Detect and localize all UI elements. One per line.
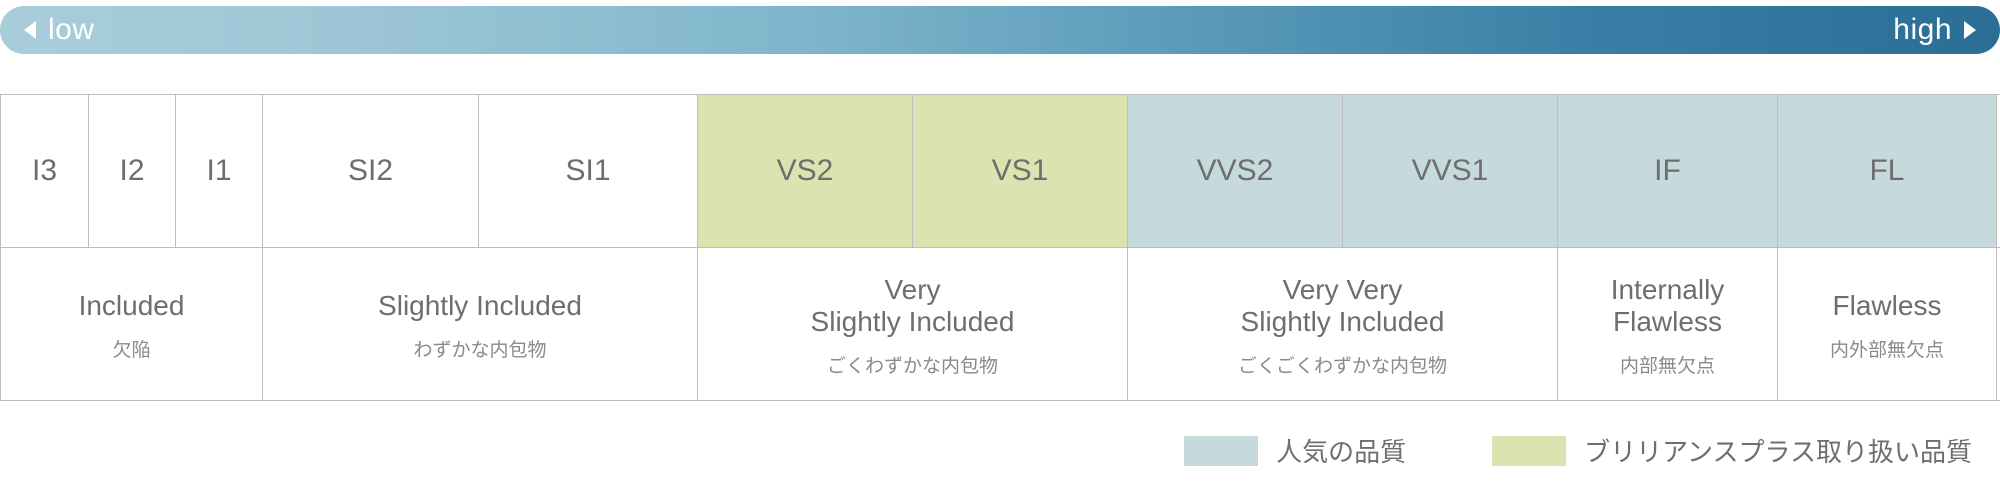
description-japanese: 内部無欠点: [1620, 351, 1715, 378]
clarity-table: I3I2I1SI2SI1VS2VS1VVS2VVS1IFFL Included欠…: [0, 94, 2000, 401]
scale-low-label: low: [48, 13, 95, 47]
scale-low-group: low: [24, 13, 95, 47]
description-cell-0: Included欠陥: [0, 248, 262, 400]
legend-item-0: 人気の品質: [1184, 432, 1406, 469]
description-japanese: ごくごくわずかな内包物: [1238, 351, 1447, 378]
legend-swatch: [1184, 436, 1258, 466]
grade-label: SI1: [565, 154, 610, 188]
grade-cell-vs1: VS1: [912, 95, 1127, 247]
grade-cell-fl: FL: [1777, 95, 1997, 247]
grade-label: SI2: [348, 154, 393, 188]
scale-high-label: high: [1893, 13, 1952, 47]
description-english: Flawless: [1833, 290, 1942, 321]
legend-swatch: [1492, 436, 1566, 466]
description-japanese: わずかな内包物: [413, 335, 546, 362]
grade-cell-si1: SI1: [478, 95, 697, 247]
description-english: Very Slightly Included: [811, 274, 1015, 337]
triangle-left-icon: [24, 21, 36, 39]
legend-label: ブリリアンスプラス取り扱い品質: [1584, 432, 1972, 469]
description-cell-1: Slightly Includedわずかな内包物: [262, 248, 697, 400]
description-japanese: 欠陥: [112, 335, 150, 362]
description-english: Very Very Slightly Included: [1241, 274, 1445, 337]
grade-cell-vvs1: VVS1: [1342, 95, 1557, 247]
description-english: Internally Flawless: [1611, 274, 1725, 337]
description-japanese: 内外部無欠点: [1830, 335, 1944, 362]
description-cell-3: Very Very Slightly Includedごくごくわずかな内包物: [1127, 248, 1557, 400]
grade-cell-i3: I3: [0, 95, 88, 247]
triangle-right-icon: [1964, 21, 1976, 39]
grade-label: VVS1: [1412, 154, 1489, 188]
legend-label: 人気の品質: [1276, 432, 1406, 469]
scale-high-group: high: [1893, 13, 1976, 47]
grade-label: VVS2: [1197, 154, 1274, 188]
grade-cell-i1: I1: [175, 95, 262, 247]
grade-label: I2: [119, 154, 144, 188]
description-cell-4: Internally Flawless内部無欠点: [1557, 248, 1777, 400]
grade-cell-si2: SI2: [262, 95, 478, 247]
clarity-gradient-bar: low high: [0, 6, 2000, 54]
grade-label: VS1: [992, 154, 1049, 188]
grade-label: I3: [32, 154, 57, 188]
description-cell-5: Flawless内外部無欠点: [1777, 248, 1997, 400]
description-cell-2: Very Slightly Includedごくわずかな内包物: [697, 248, 1127, 400]
description-english: Included: [79, 290, 185, 321]
description-row: Included欠陥Slightly Includedわずかな内包物Very S…: [0, 248, 2000, 401]
clarity-scale-diagram: low high I3I2I1SI2SI1VS2VS1VVS2VVS1IFFL …: [0, 0, 2000, 486]
grade-label: I1: [206, 154, 231, 188]
grade-label: FL: [1869, 154, 1904, 188]
grade-cell-vs2: VS2: [697, 95, 912, 247]
description-english: Slightly Included: [378, 290, 582, 321]
legend-item-1: ブリリアンスプラス取り扱い品質: [1492, 432, 1972, 469]
grade-cell-vvs2: VVS2: [1127, 95, 1342, 247]
grade-label: IF: [1654, 154, 1681, 188]
grade-cell-i2: I2: [88, 95, 175, 247]
legend: 人気の品質ブリリアンスプラス取り扱い品質: [0, 432, 2000, 469]
grade-cell-if: IF: [1557, 95, 1777, 247]
grade-row: I3I2I1SI2SI1VS2VS1VVS2VVS1IFFL: [0, 94, 2000, 248]
grade-label: VS2: [777, 154, 834, 188]
description-japanese: ごくわずかな内包物: [827, 351, 998, 378]
